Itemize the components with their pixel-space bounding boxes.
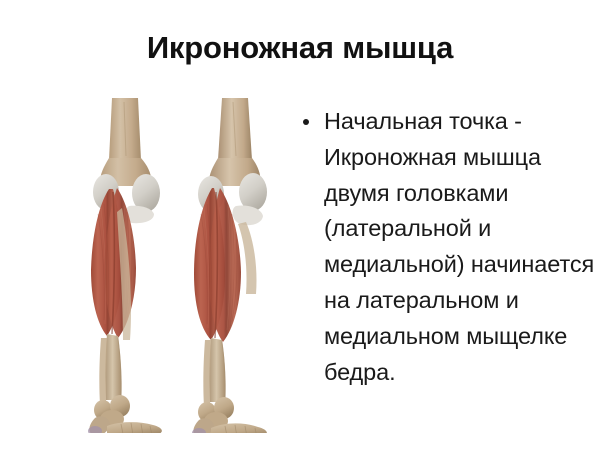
foot-bones xyxy=(107,422,162,433)
left-leg-posterior-view xyxy=(88,98,162,433)
bullet-item-text: Начальная точка - Икроножная мышца двумя… xyxy=(324,104,596,390)
medial-condyle xyxy=(239,173,267,211)
page-title: Икроножная мышца xyxy=(0,29,600,67)
fibula-bone xyxy=(99,338,107,404)
anatomy-illustration xyxy=(55,88,300,433)
right-leg-posterior-view xyxy=(192,98,267,433)
tibia-bone xyxy=(238,222,257,294)
bullet-list-item: Начальная точка - Икроножная мышца двумя… xyxy=(296,104,596,390)
content-text-block: Начальная точка - Икроножная мышца двумя… xyxy=(296,104,596,414)
slide-canvas: Икроножная мышца xyxy=(0,0,600,450)
bullet-marker-icon xyxy=(303,119,309,125)
anatomy-illustration-svg xyxy=(55,88,300,433)
fibula-bone xyxy=(203,340,211,406)
